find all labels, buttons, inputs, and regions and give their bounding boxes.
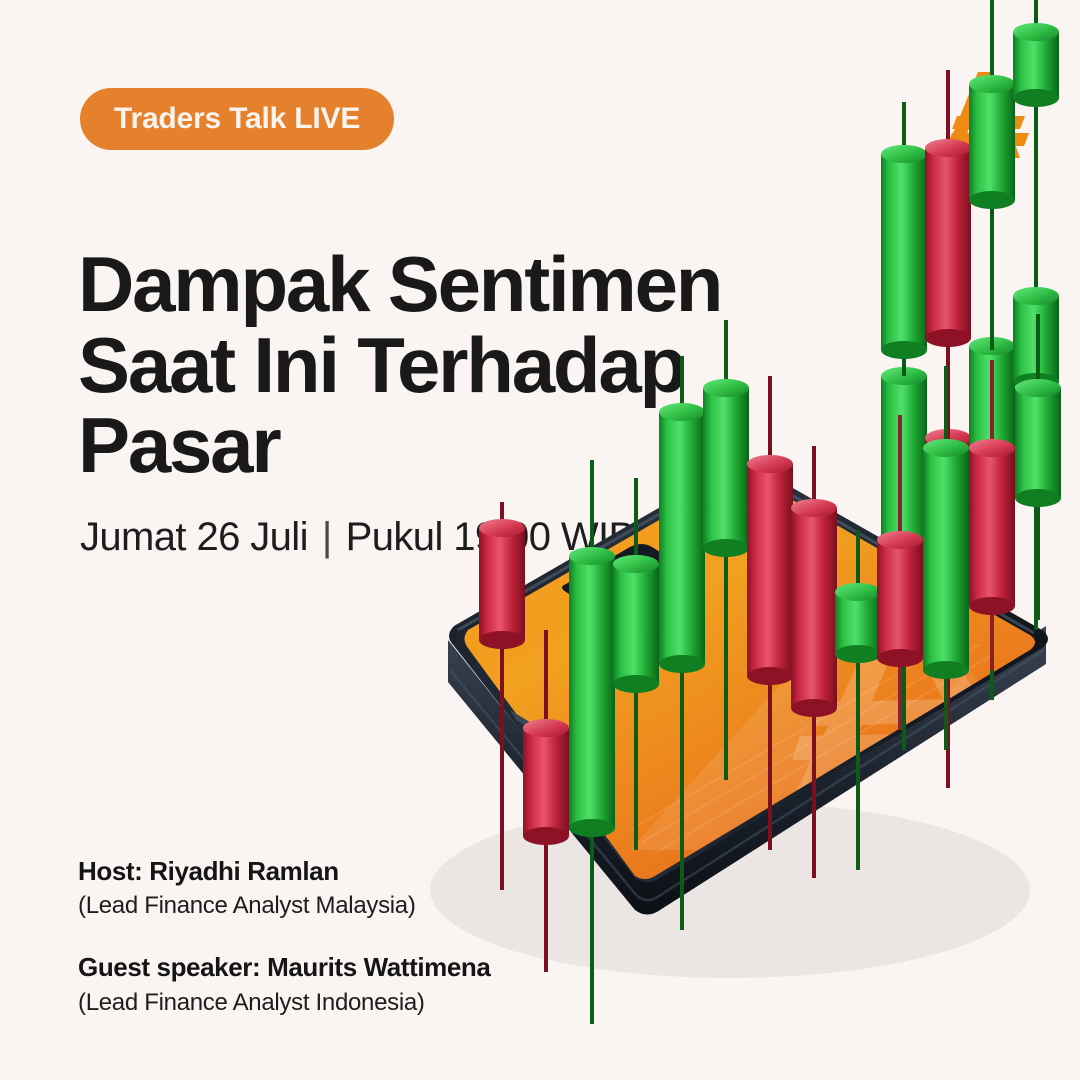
schedule-time: Pukul 19.00 WIB bbox=[346, 515, 635, 560]
headline-line-2: Saat Ini Terhadap bbox=[78, 325, 838, 405]
brand-logo bbox=[928, 58, 1038, 168]
headline-line-3: Pasar bbox=[78, 405, 838, 485]
guest-entry: Guest speaker: Maurits Wattimena (Lead F… bbox=[78, 951, 490, 1018]
host-entry: Host: Riyadhi Ramlan (Lead Finance Analy… bbox=[78, 855, 490, 922]
live-badge-label: Traders Talk LIVE bbox=[114, 104, 360, 134]
live-badge[interactable]: Traders Talk LIVE bbox=[80, 88, 394, 150]
schedule-line: Jumat 26 Juli | Pukul 19.00 WIB bbox=[80, 515, 635, 560]
schedule-separator: | bbox=[322, 515, 332, 560]
headline-line-1: Dampak Sentimen bbox=[78, 244, 838, 324]
guest-name: Guest speaker: Maurits Wattimena bbox=[78, 951, 490, 984]
host-role: (Lead Finance Analyst Malaysia) bbox=[78, 890, 490, 921]
schedule-date: Jumat 26 Juli bbox=[80, 515, 308, 560]
page-title: Dampak Sentimen Saat Ini Terhadap Pasar bbox=[78, 244, 838, 485]
guest-role: (Lead Finance Analyst Indonesia) bbox=[78, 987, 490, 1018]
host-name: Host: Riyadhi Ramlan bbox=[78, 855, 490, 888]
poster-canvas: Traders Talk LIVE Dampak Sentimen Saat I… bbox=[0, 0, 1080, 1080]
speakers-block: Host: Riyadhi Ramlan (Lead Finance Analy… bbox=[78, 855, 490, 1018]
